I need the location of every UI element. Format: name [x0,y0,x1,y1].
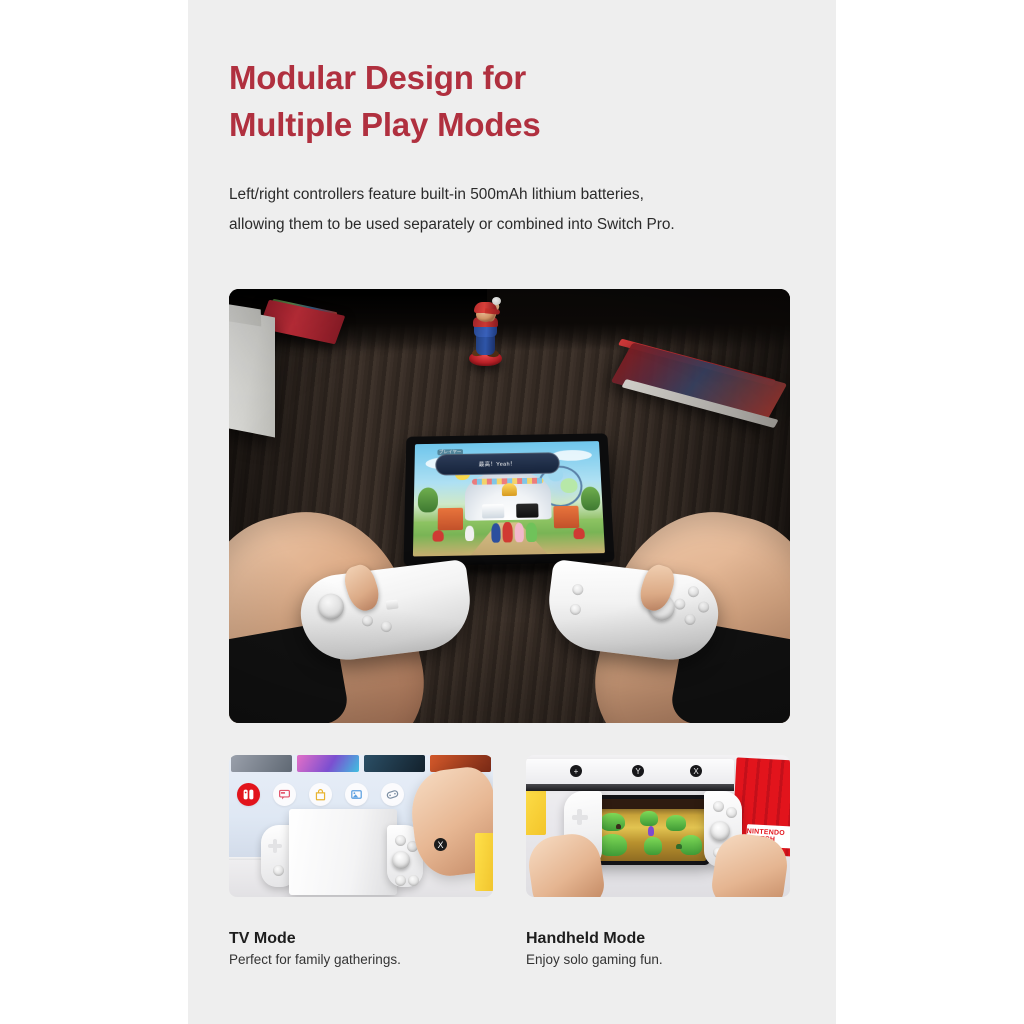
bush [680,835,702,855]
handheld-mode-title: Handheld Mode [526,930,645,948]
left-analog-stick [316,592,345,621]
page-description: Left/right controllers feature built-in … [229,180,819,240]
x-badge-icon: X [434,838,447,851]
product-detail-page: Modular Design for Multiple Play Modes L… [0,0,1024,1024]
x-button [687,586,699,598]
character [491,524,501,543]
character-toad [465,525,475,541]
tv-mode-title: TV Mode [229,930,296,948]
b-button [684,613,696,625]
switch-dock [289,809,397,895]
x-button-graphic: X [690,765,702,777]
white-box [229,307,275,438]
plus-button-graphic: + [570,765,582,777]
switch-handheld-console [592,795,710,865]
hero-photo: プレイヤー 最高！Yeah！ [229,289,790,723]
tv-mode-subtitle: Perfect for family gatherings. [229,952,401,967]
plus-button [569,603,581,615]
eshop-icon [309,783,332,806]
controller-button [713,801,724,812]
nintendo-switch-online-icon [237,783,260,806]
character-mario [503,522,513,542]
minus-button [386,599,399,609]
home-button [572,583,584,595]
dpad-button [361,615,373,627]
stall-screen [482,504,505,518]
page-description-line-1: Left/right controllers feature built-in … [229,180,819,210]
controllers-icon [381,783,404,806]
controller-button [395,875,406,886]
page-title-line-1: Modular Design for [229,55,829,102]
shelf-shadow [526,784,734,791]
golden-bell [502,483,517,497]
switch-home-icons [237,783,404,806]
dpad-horizontal [268,844,282,848]
controller-button [273,865,284,876]
switch-console: プレイヤー 最高！Yeah！ [403,433,614,566]
tree [417,488,438,513]
kiosk [553,505,579,528]
kiosk [438,507,463,530]
page-description-line-2: allowing them to be used separately or c… [229,210,819,240]
dpad-horizontal [572,815,588,820]
console-screen: プレイヤー 最高！Yeah！ [413,441,605,556]
controller-button [395,835,406,846]
dpad-button [380,620,392,632]
character-peach [514,523,524,542]
game-tile [364,755,425,772]
handheld-mode-subtitle: Enjoy solo gaming fun. [526,952,663,967]
enemy [676,844,682,850]
amiibo-glove [492,297,501,305]
bush [640,811,658,826]
news-icon [273,783,296,806]
bush [666,815,686,831]
controller-button [726,807,737,818]
stall-screen [516,504,539,518]
handheld-screen [596,799,706,861]
game-tile [297,755,358,772]
handheld-mode-photo: + Y X NINTENDO SWITCH [526,755,790,897]
enemy [616,824,622,830]
page-title: Modular Design for Multiple Play Modes [229,55,829,149]
y-button [674,598,686,610]
game-tile [231,755,292,772]
bush [600,813,624,832]
white-shelf-bar [526,759,734,785]
character [573,528,585,540]
character-yoshi [526,523,538,542]
mario-amiibo [465,297,505,369]
tree [581,487,601,511]
yellow-package [475,833,493,891]
balloon [560,478,577,493]
character [432,530,444,542]
page-title-line-2: Multiple Play Modes [229,102,829,149]
album-icon [345,783,368,806]
controller-button [408,875,419,886]
screen-dialog: 最高！Yeah！ [435,453,560,476]
a-button [697,601,709,613]
bush [598,834,627,856]
dock-controller-stick [392,851,410,869]
bush [644,837,662,854]
player-character [648,826,655,836]
y-button-graphic: Y [632,765,644,777]
tv-mode-photo: X [229,755,493,897]
cave-ceiling [596,799,706,809]
